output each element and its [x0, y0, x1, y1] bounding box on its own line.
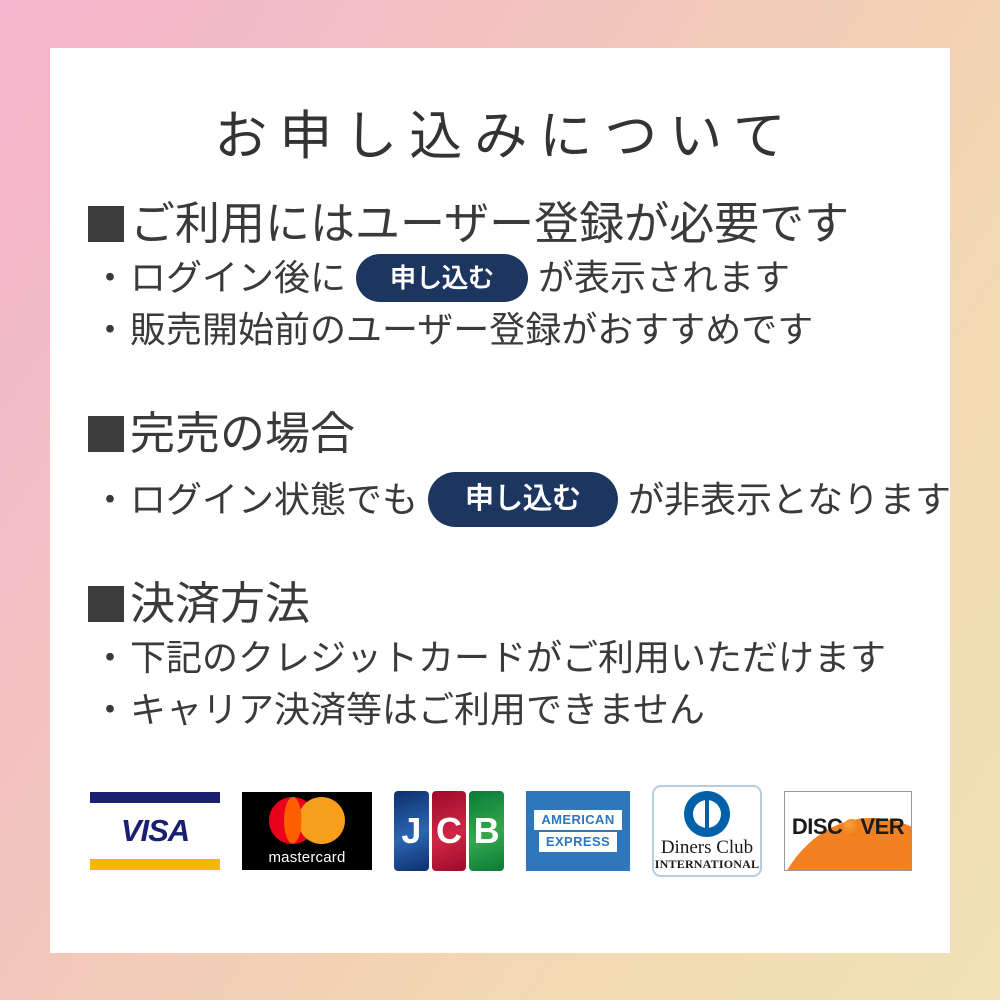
discover-wordmark: DISCVER: [785, 814, 911, 840]
apply-button[interactable]: 申し込む: [356, 254, 528, 302]
bullet-text-after: が表示されます: [538, 252, 790, 304]
bullet-text-before: 下記のクレジットカードがご利用いただけます: [130, 632, 886, 684]
poster-page: お申し込みについて ご利用にはユーザー登録が必要です ・ ログイン後に 申し込む…: [0, 0, 1000, 1000]
american-express-logo-icon: AMERICAN EXPRESS: [526, 791, 630, 871]
section-heading: 完売の場合: [68, 406, 951, 462]
discover-o-circle-icon: [843, 819, 860, 836]
mastercard-orange-circle: [298, 797, 345, 844]
section-heading: ご利用にはユーザー登録が必要です: [68, 196, 849, 252]
bullet-text-before: 販売開始前のユーザー登録がおすすめです: [130, 304, 813, 356]
diners-club-subtitle: INTERNATIONAL: [655, 858, 759, 871]
amex-line-2: EXPRESS: [539, 832, 617, 852]
visa-wordmark: VISA: [90, 803, 220, 859]
bullet-text-before: キャリア決済等はご利用できません: [130, 684, 705, 736]
dot-bullet-icon: ・: [92, 474, 128, 526]
mastercard-wordmark: mastercard: [268, 849, 345, 866]
visa-logo-icon: VISA: [90, 792, 220, 870]
content-card: お申し込みについて ご利用にはユーザー登録が必要です ・ ログイン後に 申し込む…: [50, 48, 950, 953]
mastercard-overlap: [284, 797, 302, 844]
bullet-text-before: ログイン後に: [130, 252, 346, 304]
diners-club-name: Diners Club: [661, 838, 753, 858]
jcb-letter-j: J: [394, 791, 429, 871]
dot-bullet-icon: ・: [92, 632, 128, 684]
payment-brand-list: VISA mastercard J C B AMERICAN EXPRESS: [90, 785, 920, 877]
bullet-item: ・ 下記のクレジットカードがご利用いただけます: [68, 632, 886, 684]
square-bullet-icon: [88, 586, 124, 622]
section-heading-text: 完売の場合: [130, 406, 355, 462]
mastercard-circles: [269, 797, 345, 844]
apply-button[interactable]: 申し込む: [428, 472, 618, 527]
bullet-item: ・ 販売開始前のユーザー登録がおすすめです: [68, 304, 849, 356]
section-heading-text: ご利用にはユーザー登録が必要です: [130, 196, 849, 252]
jcb-letter-c: C: [432, 791, 467, 871]
discover-part-1: DISC: [792, 814, 843, 839]
visa-bottom-bar: [90, 859, 220, 870]
diners-club-logo-icon: Diners Club INTERNATIONAL: [652, 785, 762, 877]
bullet-item: ・ キャリア決済等はご利用できません: [68, 684, 886, 736]
section-user-registration: ご利用にはユーザー登録が必要です ・ ログイン後に 申し込む が表示されます ・…: [68, 196, 849, 357]
section-payment-methods: 決済方法 ・ 下記のクレジットカードがご利用いただけます ・ キャリア決済等はご…: [68, 576, 886, 737]
section-heading-text: 決済方法: [130, 576, 310, 632]
discover-logo-icon: DISCVER: [784, 791, 912, 871]
page-title: お申し込みについて: [50, 48, 950, 166]
discover-part-2: VER: [860, 814, 904, 839]
amex-line-1: AMERICAN: [534, 810, 621, 830]
dot-bullet-icon: ・: [92, 252, 128, 304]
jcb-letter-b: B: [469, 791, 504, 871]
visa-top-bar: [90, 792, 220, 803]
section-sold-out: 完売の場合 ・ ログイン状態でも 申し込む が非表示となります: [68, 406, 951, 527]
square-bullet-icon: [88, 416, 124, 452]
section-heading: 決済方法: [68, 576, 886, 632]
bullet-item: ・ ログイン後に 申し込む が表示されます: [68, 252, 849, 304]
dot-bullet-icon: ・: [92, 304, 128, 356]
dot-bullet-icon: ・: [92, 684, 128, 736]
bullet-text-after: が非表示となります: [628, 474, 951, 526]
square-bullet-icon: [88, 206, 124, 242]
jcb-logo-icon: J C B: [394, 791, 504, 871]
bullet-item: ・ ログイン状態でも 申し込む が非表示となります: [68, 472, 951, 527]
bullet-text-before: ログイン状態でも: [130, 474, 418, 526]
mastercard-logo-icon: mastercard: [242, 792, 372, 870]
diners-club-mark: [684, 791, 730, 837]
